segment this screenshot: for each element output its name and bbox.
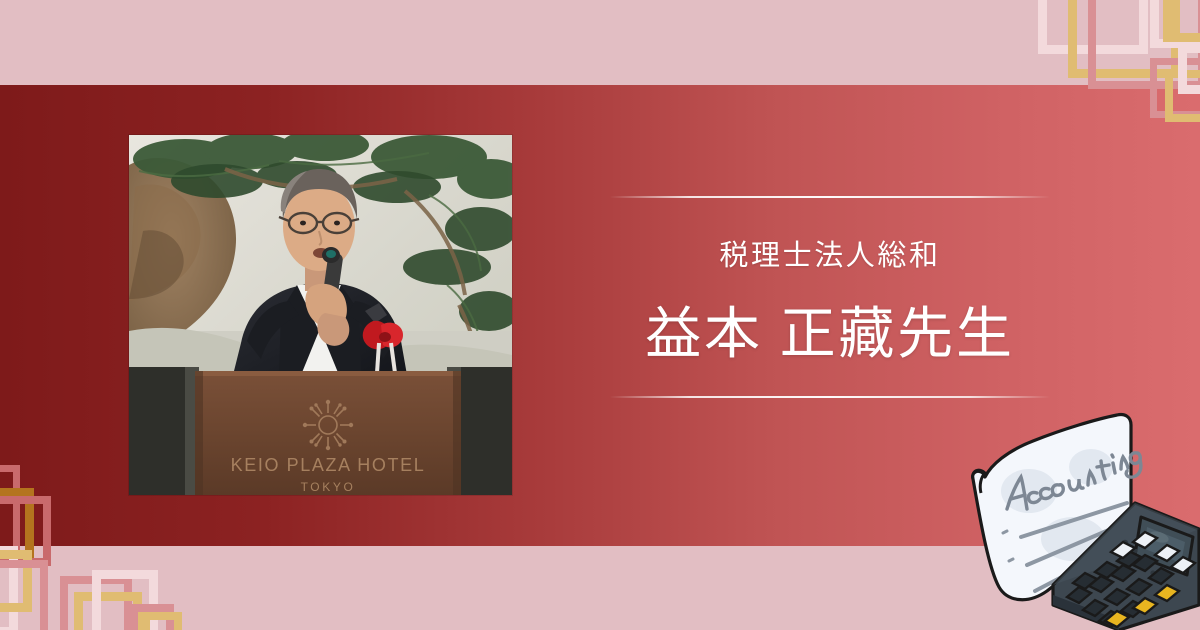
podium-text-line1: KEIO PLAZA HOTEL xyxy=(231,455,426,475)
speaker-name: 益本 正藏先生 xyxy=(610,304,1050,367)
podium-text-line2: TOKYO xyxy=(301,480,356,494)
divider-top xyxy=(610,196,1050,198)
accounting-calculator-illustration xyxy=(955,405,1200,630)
banner-canvas: KEIO PLAZA HOTEL TOKYO 税理士法人総和 益本 正藏先生 xyxy=(0,0,1200,630)
background-band-top xyxy=(0,0,1200,85)
organization-name: 税理士法人総和 xyxy=(610,242,1050,271)
divider-bottom xyxy=(610,396,1050,398)
title-block: 税理士法人総和 益本 正藏先生 xyxy=(610,190,1050,405)
speaker-photo: KEIO PLAZA HOTEL TOKYO xyxy=(129,135,512,495)
